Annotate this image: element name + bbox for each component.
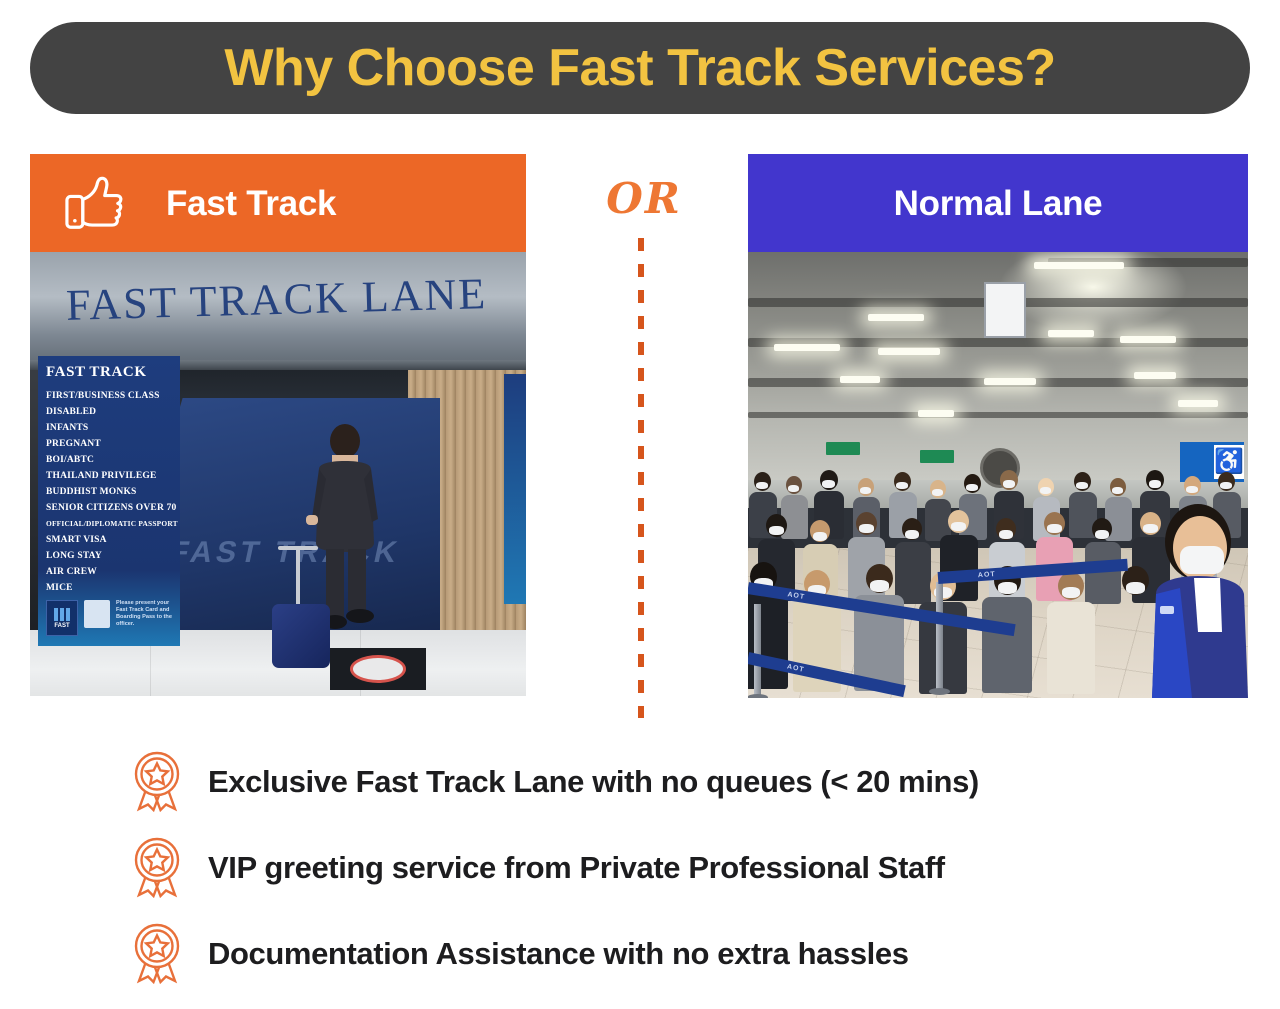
nl-barrier-post [754, 604, 761, 696]
fast-track-label: Fast Track [166, 186, 336, 221]
normal-lane-panel: Normal Lane ♿ [748, 154, 1248, 698]
benefits-list: Exclusive Fast Track Lane with no queues… [128, 738, 1168, 996]
award-ribbon-icon [128, 750, 186, 812]
ft-board-footer: FAST Please present your Fast Track Card… [46, 600, 174, 636]
award-ribbon-icon [128, 836, 186, 898]
nl-staff-member [1136, 502, 1248, 698]
ft-board-item: MICE [46, 580, 174, 596]
ft-board-item: THAILAND PRIVILEGE [46, 468, 174, 484]
ft-board-item: AIR CREW [46, 564, 174, 580]
ft-board-list: FIRST/BUSINESS CLASS DISABLED INFANTS PR… [46, 388, 174, 596]
ft-board-item: SMART VISA [46, 532, 174, 548]
ft-board-item: INFANTS [46, 420, 174, 436]
divider-or-label: OR [596, 178, 692, 220]
ft-decal-ring [350, 655, 406, 683]
ft-board-item: PREGNANT [46, 436, 174, 452]
page-header-banner: Why Choose Fast Track Services? [30, 22, 1250, 114]
ft-floor-decal [330, 648, 426, 690]
ft-board-note: Please present your Fast Track Card and … [116, 600, 174, 628]
normal-lane-photo: ♿ [748, 252, 1248, 698]
fast-track-panel-header: Fast Track [30, 154, 526, 252]
nl-barrier-post [936, 582, 943, 690]
ft-board-item: OFFICIAL/DIPLOMATIC PASSPORT [46, 516, 174, 532]
ft-board-title: FAST TRACK [46, 364, 174, 381]
ft-board-item: LONG STAY [46, 548, 174, 564]
ft-card-bars [54, 608, 70, 621]
fast-track-panel: Fast Track FAST TRACK FAST TRACK LANE [30, 154, 526, 696]
nl-queue-signboard [984, 282, 1026, 338]
divider-dotted-line [638, 238, 644, 718]
thumbs-up-icon [64, 175, 124, 231]
ft-secondary-board [504, 374, 526, 604]
award-ribbon-icon [128, 922, 186, 984]
fast-track-photo: FAST TRACK FAST TRACK LANE FAST TRACK FI… [30, 252, 526, 696]
ft-suitcase [272, 604, 330, 668]
ft-board-item: BUDDHIST MONKS [46, 484, 174, 500]
nl-exit-sign [826, 442, 860, 455]
ft-board-item: DISABLED [46, 404, 174, 420]
normal-lane-panel-header: Normal Lane [748, 154, 1248, 252]
normal-lane-label: Normal Lane [894, 186, 1103, 221]
ft-card-label: FAST [54, 623, 69, 629]
benefit-item: Exclusive Fast Track Lane with no queues… [128, 738, 1168, 824]
ft-board-item: BOI/ABTC [46, 452, 174, 468]
benefit-text: VIP greeting service from Private Profes… [208, 852, 945, 883]
page-title: Why Choose Fast Track Services? [224, 42, 1055, 94]
ft-boarding-pass-icon [84, 600, 110, 628]
ft-fast-track-board: FAST TRACK FIRST/BUSINESS CLASS DISABLED… [38, 356, 180, 646]
benefit-text: Documentation Assistance with no extra h… [208, 938, 909, 969]
nl-exit-sign [920, 450, 954, 463]
ft-board-item: FIRST/BUSINESS CLASS [46, 388, 174, 404]
benefit-item: Documentation Assistance with no extra h… [128, 910, 1168, 996]
ft-board-item: SENIOR CITIZENS OVER 70 [46, 500, 174, 516]
ft-track-card-icon: FAST [46, 600, 78, 636]
benefit-text: Exclusive Fast Track Lane with no queues… [208, 766, 979, 797]
benefit-item: VIP greeting service from Private Profes… [128, 824, 1168, 910]
